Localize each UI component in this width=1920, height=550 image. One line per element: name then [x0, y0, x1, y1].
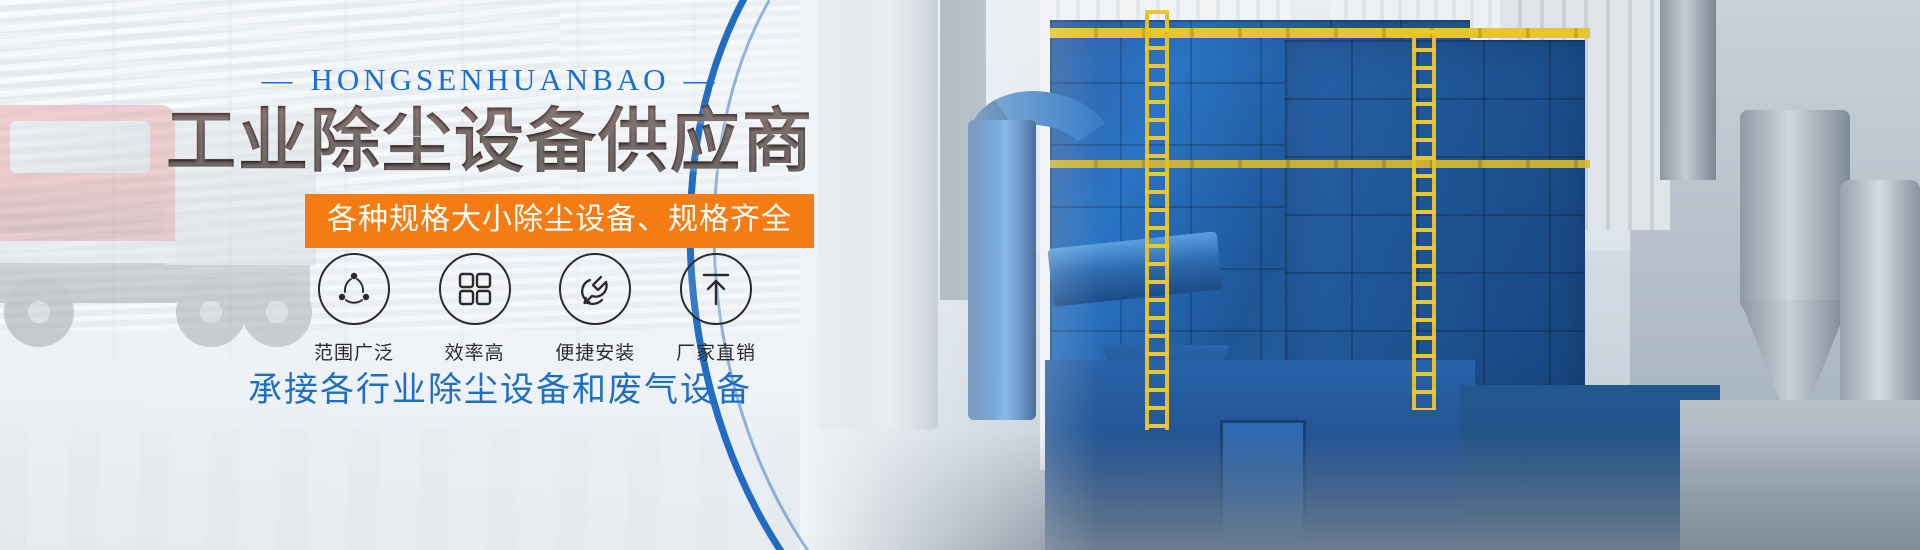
metal-duct-right [1840, 180, 1920, 410]
feature-item-efficiency[interactable]: 效率高 [421, 253, 529, 365]
wrench-rotate-icon [559, 253, 631, 325]
eyebrow-text: HONGSENHUANBAO [310, 62, 669, 97]
grid-squares-icon [439, 253, 511, 325]
yellow-ladder [1412, 30, 1436, 410]
hero-banner: —HONGSENHUANBAO— 工业除尘设备供应商 各种规格大小除尘设备、规格… [0, 0, 1920, 550]
feature-label: 效率高 [421, 338, 529, 365]
feature-label: 厂家直销 [662, 338, 770, 365]
feature-item-installation[interactable]: 便捷安装 [541, 253, 649, 365]
feature-item-factory-direct[interactable]: 厂家直销 [662, 253, 770, 365]
arrow-up-bar-icon [680, 253, 752, 325]
feature-label: 便捷安装 [541, 338, 649, 365]
eyebrow-dash-left: — [261, 62, 296, 98]
page-title: 工业除尘设备供应商 [0, 103, 980, 179]
banner-content: —HONGSENHUANBAO— 工业除尘设备供应商 各种规格大小除尘设备、规格… [0, 0, 1000, 550]
metal-stack [1660, 0, 1716, 180]
metal-cyclone [1740, 110, 1850, 310]
feature-label: 范围广泛 [300, 338, 408, 365]
network-nodes-icon [318, 253, 390, 325]
subtitle-orange-bar: 各种规格大小除尘设备、规格齐全 [305, 194, 814, 248]
brand-eyebrow: —HONGSENHUANBAO— [0, 62, 980, 98]
banner-tagline: 承接各行业除尘设备和废气设备 [0, 370, 1000, 410]
feature-item-scope[interactable]: 范围广泛 [300, 253, 408, 365]
eyebrow-dash-right: — [684, 62, 719, 98]
feature-list: 范围广泛 效率高 [300, 253, 770, 365]
